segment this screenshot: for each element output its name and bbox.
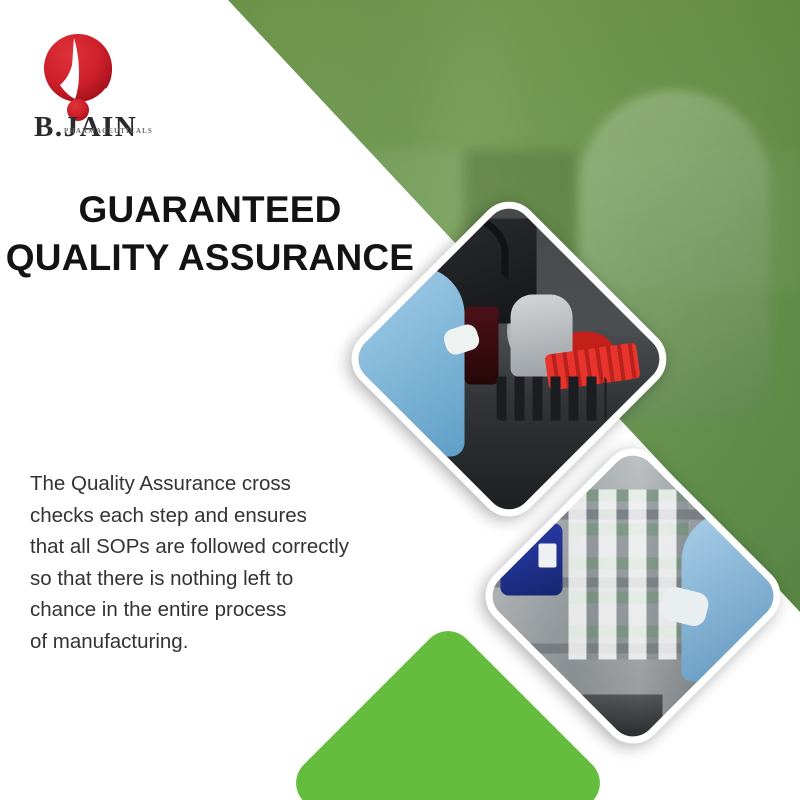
bottle-rows-shape: [568, 489, 688, 659]
vial-row-shape: [497, 377, 607, 421]
body-paragraph: The Quality Assurance cross checks each …: [30, 468, 430, 657]
body-line: checks each step and ensures: [30, 500, 430, 532]
page-title: GUARANTEED QUALITY ASSURANCE: [0, 186, 420, 282]
brand-logo[interactable]: B.JAIN PHARMACEUTICALS: [28, 24, 158, 139]
body-line: The Quality Assurance cross: [30, 468, 430, 500]
body-line: that all SOPs are followed correctly: [30, 531, 430, 563]
body-line: so that there is nothing left to: [30, 563, 430, 595]
headline-line-1: GUARANTEED: [0, 186, 420, 234]
poster-canvas: B.JAIN PHARMACEUTICALS GUARANTEED QUALIT…: [0, 0, 800, 800]
body-line: chance in the entire process: [30, 594, 430, 626]
headline-line-2: QUALITY ASSURANCE: [0, 234, 420, 282]
body-line: of manufacturing.: [30, 626, 430, 658]
bjain-swoosh-logo-icon: B.JAIN: [28, 24, 158, 139]
brand-tagline: PHARMACEUTICALS: [64, 127, 153, 135]
